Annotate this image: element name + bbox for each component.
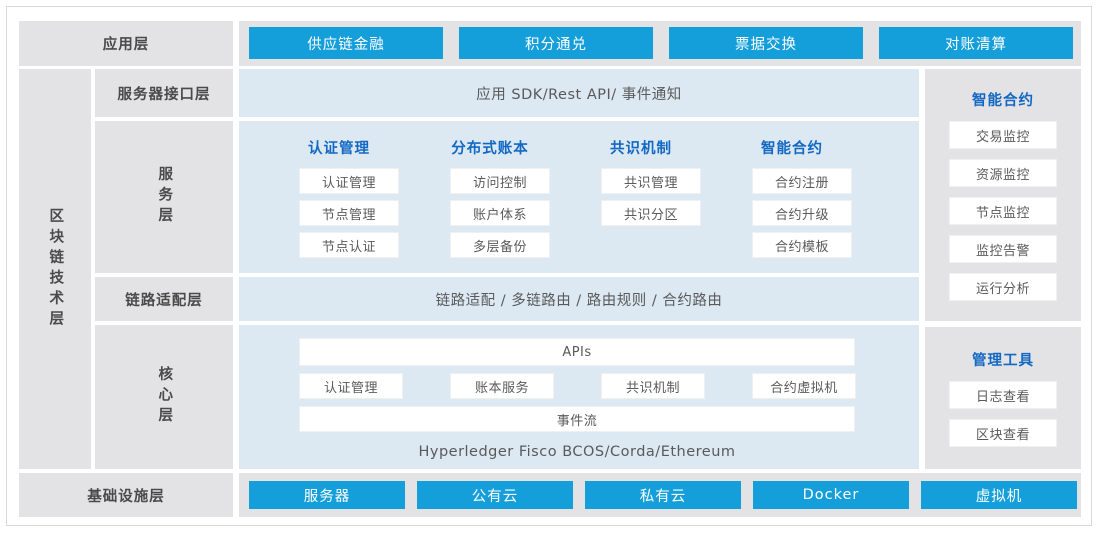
core-event-stream-bar[interactable]: 事件流 (299, 406, 855, 432)
core-layer-label-box: 核心层 (95, 325, 233, 469)
right-panel-item-node-monitoring[interactable]: 节点监控 (949, 197, 1057, 225)
service-col-head-smart-contract: 智能合约 (712, 136, 872, 158)
service-col-head-distributed-ledger: 分布式账本 (410, 136, 570, 158)
right-panel-item-log-viewer[interactable]: 日志查看 (949, 381, 1057, 409)
service-col-head-auth-management: 认证管理 (259, 136, 419, 158)
infra-item-public-cloud[interactable]: 公有云 (417, 481, 573, 509)
service-card-contract-template[interactable]: 合约模板 (752, 232, 852, 258)
architecture-diagram: 应用层 供应链金融 积分通兑 票据交换 对账清算 区块链技术层 服务器接口层 应… (6, 6, 1092, 526)
server-interface-layer-content: 应用 SDK/Rest API/ 事件通知 (239, 69, 919, 117)
blockchain-tech-layer-label-box: 区块链技术层 (19, 69, 91, 469)
service-card-access-control[interactable]: 访问控制 (450, 168, 550, 194)
service-layer-label: 服务层 (157, 166, 172, 228)
core-module-ledger-service[interactable]: 账本服务 (450, 373, 554, 399)
right-panel-item-monitoring-alert[interactable]: 监控告警 (949, 235, 1057, 263)
right-panel-smart-contract-head: 智能合约 (925, 77, 1081, 121)
infra-item-server[interactable]: 服务器 (249, 481, 405, 509)
service-card-node-management[interactable]: 节点管理 (299, 200, 399, 226)
infrastructure-layer-label: 基础设施层 (19, 473, 233, 517)
core-module-contract-vm[interactable]: 合约虚拟机 (752, 373, 856, 399)
right-panel-item-block-viewer[interactable]: 区块查看 (949, 419, 1057, 447)
service-col-head-consensus-mechanism: 共识机制 (561, 136, 721, 158)
service-card-consensus-partition[interactable]: 共识分区 (601, 200, 701, 226)
service-card-node-auth[interactable]: 节点认证 (299, 232, 399, 258)
right-panel-item-resource-monitoring[interactable]: 资源监控 (949, 159, 1057, 187)
core-layer-label: 核心层 (157, 366, 172, 428)
right-panel-smart-contract: 智能合约 交易监控 资源监控 节点监控 监控告警 运行分析 (925, 69, 1081, 321)
app-item-bill-exchange[interactable]: 票据交换 (669, 27, 863, 59)
service-card-multilayer-backup[interactable]: 多层备份 (450, 232, 550, 258)
service-card-auth-management[interactable]: 认证管理 (299, 168, 399, 194)
link-adapter-layer-label: 链路适配层 (95, 277, 233, 321)
core-module-auth-management[interactable]: 认证管理 (299, 373, 403, 399)
right-panel-item-transaction-monitoring[interactable]: 交易监控 (949, 121, 1057, 149)
service-card-consensus-management[interactable]: 共识管理 (601, 168, 701, 194)
app-item-supply-chain-finance[interactable]: 供应链金融 (249, 27, 443, 59)
app-item-points-exchange[interactable]: 积分通兑 (459, 27, 653, 59)
right-panel-management-tools-head: 管理工具 (925, 337, 1081, 381)
infra-item-docker[interactable]: Docker (753, 481, 909, 509)
app-item-reconciliation-settlement[interactable]: 对账清算 (879, 27, 1073, 59)
core-layer-footer: Hyperledger Fisco BCOS/Corda/Ethereum (299, 439, 855, 465)
application-layer-label: 应用层 (19, 21, 233, 66)
right-panel-item-operation-analysis[interactable]: 运行分析 (949, 273, 1057, 301)
right-panel-management-tools: 管理工具 日志查看 区块查看 (925, 327, 1081, 469)
service-card-contract-registration[interactable]: 合约注册 (752, 168, 852, 194)
core-apis-bar[interactable]: APIs (299, 338, 855, 366)
service-card-account-system[interactable]: 账户体系 (450, 200, 550, 226)
service-layer-label-box: 服务层 (95, 121, 233, 273)
blockchain-tech-layer-label: 区块链技术层 (48, 208, 63, 331)
service-card-contract-upgrade[interactable]: 合约升级 (752, 200, 852, 226)
core-module-consensus-mechanism[interactable]: 共识机制 (601, 373, 705, 399)
link-adapter-layer-content: 链路适配 / 多链路由 / 路由规则 / 合约路由 (239, 277, 919, 321)
server-interface-layer-label: 服务器接口层 (95, 69, 233, 117)
infra-item-private-cloud[interactable]: 私有云 (585, 481, 741, 509)
infra-item-virtual-machine[interactable]: 虚拟机 (921, 481, 1077, 509)
